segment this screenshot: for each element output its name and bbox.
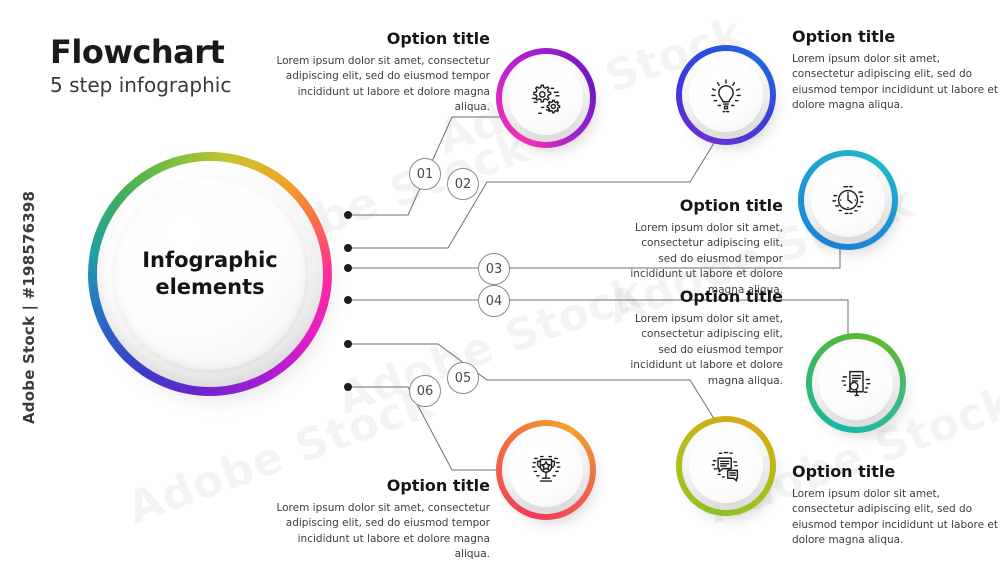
step-title-04: Option title xyxy=(628,288,783,306)
step-number-badge-06[interactable]: 06 xyxy=(409,375,441,407)
center-node-inner-face: Infographic elements xyxy=(114,178,306,370)
wire-dot-04 xyxy=(344,296,352,304)
step-text-06: Option title Lorem ipsum dolor sit amet,… xyxy=(272,477,490,563)
step-node-05[interactable] xyxy=(676,416,778,518)
step-text-03: Option title Lorem ipsum dolor sit amet,… xyxy=(628,197,783,298)
step-number-badge-01[interactable]: 01 xyxy=(409,158,441,190)
step-node-04[interactable] xyxy=(806,333,908,435)
step-text-04: Option title Lorem ipsum dolor sit amet,… xyxy=(628,288,783,389)
wire-dot-03 xyxy=(344,264,352,272)
gears-icon xyxy=(525,77,567,119)
document-search-icon xyxy=(835,362,877,404)
step-number-badge-04[interactable]: 04 xyxy=(478,285,510,317)
step-node-06[interactable] xyxy=(496,420,598,522)
step-title-02: Option title xyxy=(792,28,1000,46)
step-title-06: Option title xyxy=(272,477,490,495)
step-node-inner-face xyxy=(689,58,763,132)
step-number-badge-02[interactable]: 02 xyxy=(447,168,479,200)
step-body-05: Lorem ipsum dolor sit amet, consectetur … xyxy=(792,487,1000,549)
step-text-01: Option title Lorem ipsum dolor sit amet,… xyxy=(272,30,490,116)
step-text-05: Option title Lorem ipsum dolor sit amet,… xyxy=(792,463,1000,549)
wire-dot-05 xyxy=(344,340,352,348)
center-node-label: Infographic elements xyxy=(142,247,278,301)
center-label-line-1: Infographic xyxy=(142,248,278,272)
step-title-01: Option title xyxy=(272,30,490,48)
center-label-line-2: elements xyxy=(155,275,264,299)
step-number-badge-03[interactable]: 03 xyxy=(478,253,510,285)
step-body-02: Lorem ipsum dolor sit amet, consectetur … xyxy=(792,52,1000,114)
clock-icon xyxy=(827,179,869,221)
step-body-06: Lorem ipsum dolor sit amet, consectetur … xyxy=(272,501,490,563)
infographic-canvas: Adobe Stock Adobe Stock Adobe Stock Adob… xyxy=(0,0,1000,564)
step-node-inner-face xyxy=(689,429,763,503)
step-title-03: Option title xyxy=(628,197,783,215)
lightbulb-icon xyxy=(705,74,747,116)
step-body-04: Lorem ipsum dolor sit amet, consectetur … xyxy=(628,312,783,390)
step-node-inner-face xyxy=(509,433,583,507)
step-title-05: Option title xyxy=(792,463,1000,481)
step-node-01[interactable] xyxy=(496,48,598,150)
step-node-inner-face xyxy=(819,346,893,420)
step-number-badge-05[interactable]: 05 xyxy=(447,362,479,394)
step-text-02: Option title Lorem ipsum dolor sit amet,… xyxy=(792,28,1000,114)
wire-dot-01 xyxy=(344,211,352,219)
wire-dot-06 xyxy=(344,383,352,391)
step-node-02[interactable] xyxy=(676,45,778,147)
center-node[interactable]: Infographic elements xyxy=(88,152,336,400)
step-node-03[interactable] xyxy=(798,150,900,252)
step-node-inner-face xyxy=(811,163,885,237)
trophy-icon xyxy=(525,449,567,491)
wire-dot-02 xyxy=(344,244,352,252)
center-node-face: Infographic elements xyxy=(97,161,323,387)
step-body-01: Lorem ipsum dolor sit amet, consectetur … xyxy=(272,54,490,116)
step-node-inner-face xyxy=(509,61,583,135)
chat-icon xyxy=(705,445,747,487)
